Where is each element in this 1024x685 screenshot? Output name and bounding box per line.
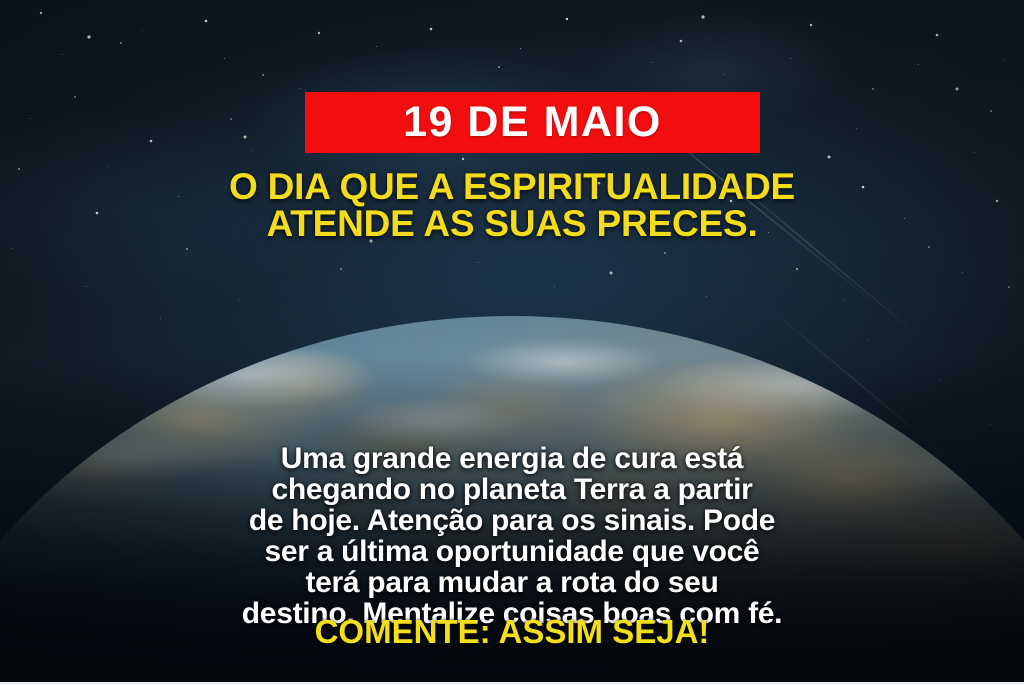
headline-line-2: ATENDE AS SUAS PRECES.: [56, 205, 968, 242]
date-banner: 19 DE MAIO: [305, 92, 760, 153]
date-banner-label: 19 DE MAIO: [403, 101, 662, 144]
body-line-2: chegando no planeta Terra a partir: [40, 474, 984, 505]
content-layer: 19 DE MAIO O DIA QUE A ESPIRITUALIDADE A…: [0, 0, 1024, 685]
body-line-4: ser a última oportunidade que você: [40, 536, 984, 567]
call-to-action-text: COMENTE: ASSIM SEJA!: [0, 615, 1024, 648]
headline-line-1: O DIA QUE A ESPIRITUALIDADE: [56, 168, 968, 205]
poster-canvas: 19 DE MAIO O DIA QUE A ESPIRITUALIDADE A…: [0, 0, 1024, 685]
headline: O DIA QUE A ESPIRITUALIDADE ATENDE AS SU…: [0, 168, 1024, 242]
body-line-3: de hoje. Atenção para os sinais. Pode: [40, 505, 984, 536]
body-line-1: Uma grande energia de cura está: [40, 443, 984, 474]
body-paragraph: Uma grande energia de cura está chegando…: [0, 443, 1024, 629]
body-line-5: terá para mudar a rota do seu: [40, 567, 984, 598]
